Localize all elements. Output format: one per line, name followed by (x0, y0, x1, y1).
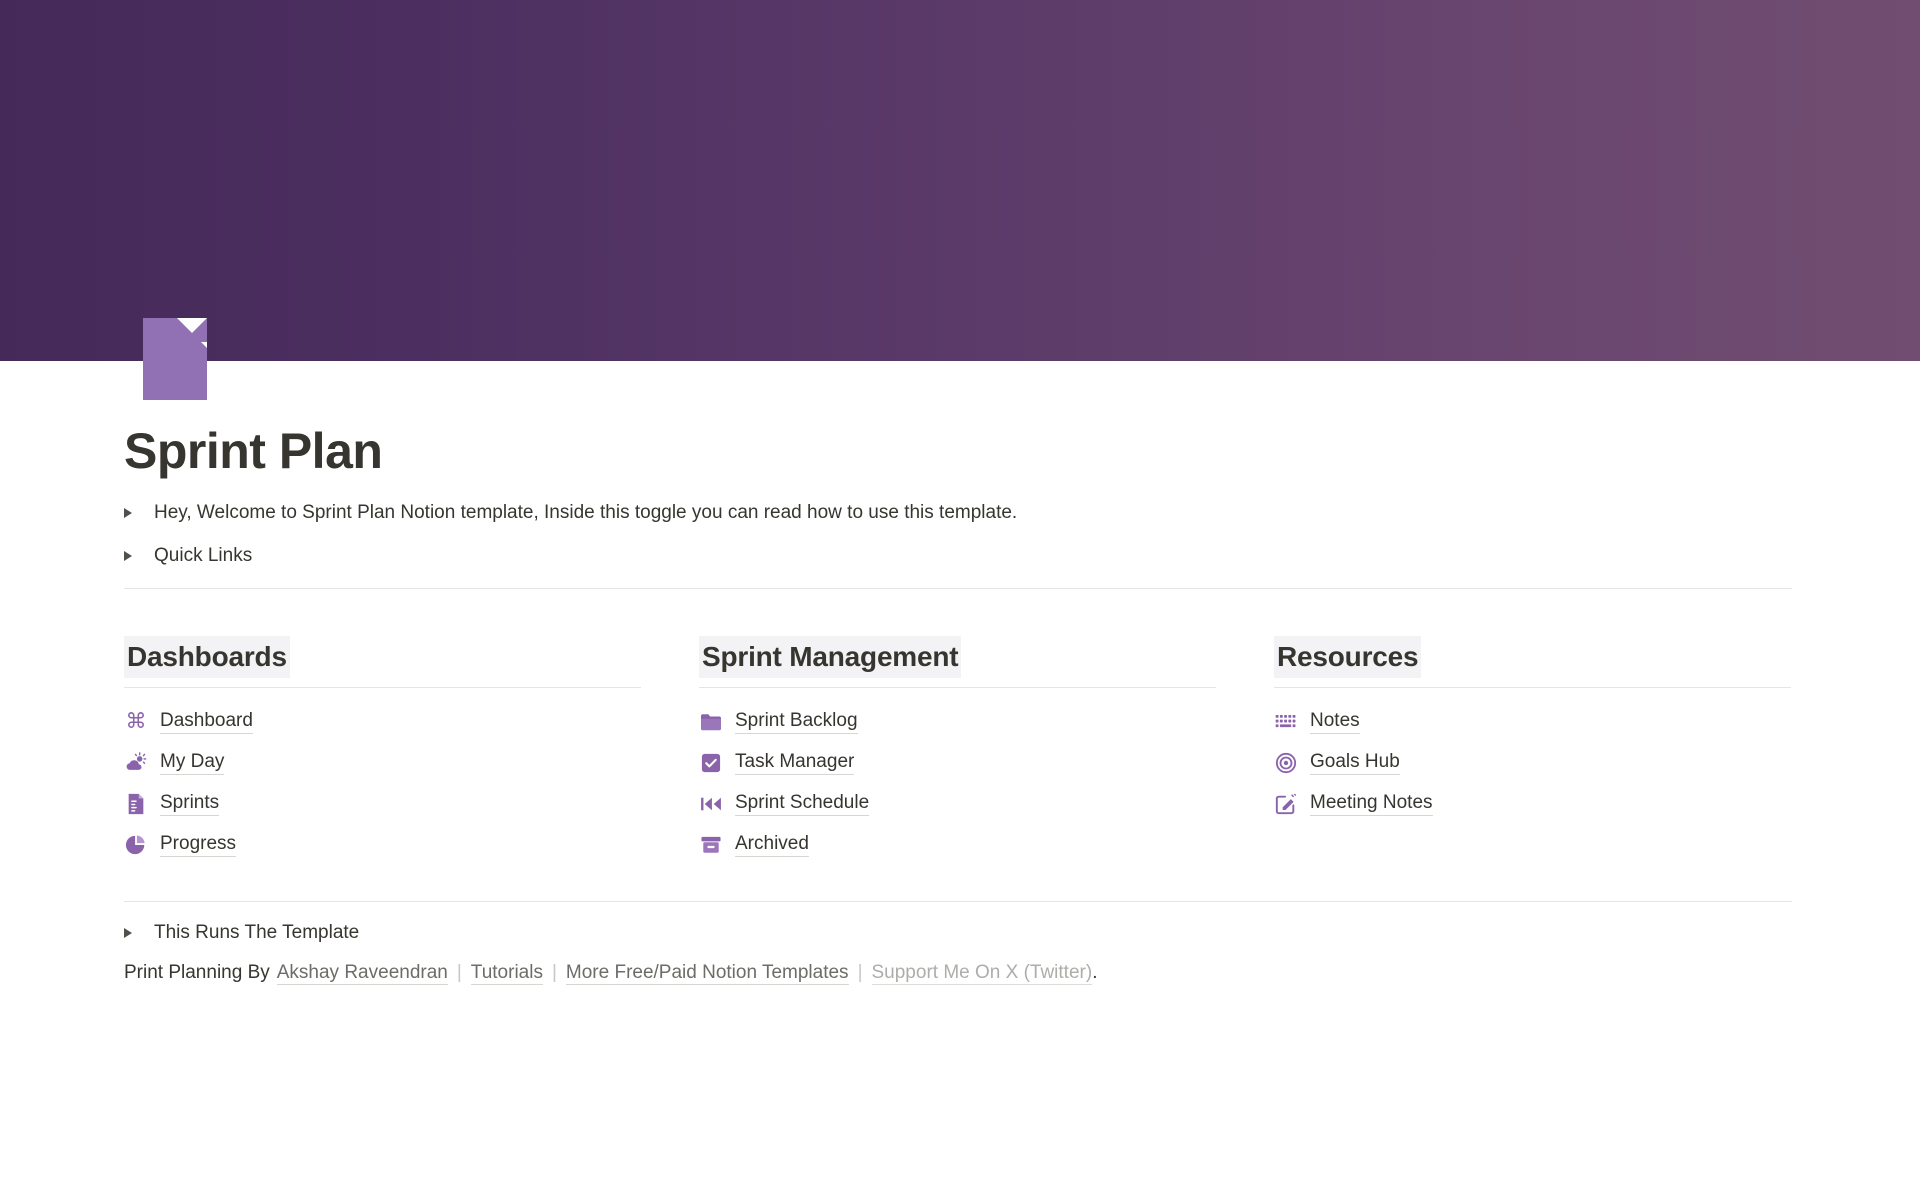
link-columns: Dashboards ⌘ Dashboard (124, 636, 1792, 865)
archive-box-icon (699, 833, 723, 857)
footer-link-tutorials[interactable]: Tutorials (471, 962, 543, 985)
rewind-icon (699, 792, 723, 816)
checkbox-checked-icon (699, 751, 723, 775)
chevron-right-icon[interactable] (124, 548, 140, 564)
column-dashboards-heading: Dashboards (124, 636, 290, 678)
column-resources: Resources (1274, 636, 1791, 865)
sun-cloud-icon (124, 751, 148, 775)
column-resources-heading: Resources (1274, 636, 1421, 678)
footer-lead: Print Planning By (124, 962, 270, 984)
link-meeting-notes-label[interactable]: Meeting Notes (1310, 792, 1433, 816)
link-my-day-label[interactable]: My Day (160, 751, 224, 775)
link-my-day[interactable]: My Day (124, 742, 641, 783)
footer-separator: | (552, 962, 557, 984)
divider-bottom (124, 901, 1792, 902)
column-resources-rule (1274, 687, 1791, 688)
welcome-toggle[interactable]: Hey, Welcome to Sprint Plan Notion templ… (124, 502, 1017, 524)
link-sprint-schedule[interactable]: Sprint Schedule (699, 783, 1216, 824)
column-dashboards-rule (124, 687, 641, 688)
chevron-right-icon[interactable] (124, 505, 140, 521)
footer-credits: Print Planning By Akshay Raveendran | Tu… (124, 962, 1097, 985)
link-goals-hub-label[interactable]: Goals Hub (1310, 751, 1400, 775)
link-sprint-backlog-label[interactable]: Sprint Backlog (735, 710, 858, 734)
column-sprint-management-heading: Sprint Management (699, 636, 961, 678)
document-icon-fold (183, 318, 207, 342)
pencil-square-icon (1274, 792, 1298, 816)
link-sprints-label[interactable]: Sprints (160, 792, 219, 816)
quick-links-toggle-label: Quick Links (154, 545, 252, 567)
column-sprint-management-heading-wrap: Sprint Management (699, 636, 1216, 678)
link-dashboard[interactable]: ⌘ Dashboard (124, 701, 641, 742)
link-sprint-schedule-label[interactable]: Sprint Schedule (735, 792, 869, 816)
pie-chart-icon (124, 833, 148, 857)
link-sprint-backlog[interactable]: Sprint Backlog (699, 701, 1216, 742)
link-progress[interactable]: Progress (124, 824, 641, 865)
this-runs-the-template-label: This Runs The Template (154, 922, 359, 944)
target-icon (1274, 751, 1298, 775)
quick-links-toggle[interactable]: Quick Links (124, 545, 252, 567)
footer-separator: | (457, 962, 462, 984)
chevron-right-icon[interactable] (124, 925, 140, 941)
footer-link-support[interactable]: Support Me On X (Twitter) (872, 962, 1093, 985)
column-dashboards-links: ⌘ Dashboard (124, 701, 641, 865)
this-runs-the-template-toggle[interactable]: This Runs The Template (124, 922, 359, 944)
folder-icon (699, 710, 723, 734)
column-resources-links: Notes Goals Hub (1274, 701, 1791, 824)
footer-link-templates[interactable]: More Free/Paid Notion Templates (566, 962, 849, 985)
column-dashboards: Dashboards ⌘ Dashboard (124, 636, 641, 865)
welcome-toggle-label: Hey, Welcome to Sprint Plan Notion templ… (154, 502, 1017, 524)
link-archived-label[interactable]: Archived (735, 833, 809, 857)
link-dashboard-label[interactable]: Dashboard (160, 710, 253, 734)
link-sprints[interactable]: Sprints (124, 783, 641, 824)
link-goals-hub[interactable]: Goals Hub (1274, 742, 1791, 783)
link-task-manager-label[interactable]: Task Manager (735, 751, 854, 775)
page-title[interactable]: Sprint Plan (124, 422, 382, 480)
column-sprint-management-links: Sprint Backlog Task Manager (699, 701, 1216, 865)
footer-separator: | (858, 962, 863, 984)
page-cover[interactable] (0, 0, 1920, 361)
document-lines-icon (124, 792, 148, 816)
column-sprint-management-rule (699, 687, 1216, 688)
link-task-manager[interactable]: Task Manager (699, 742, 1216, 783)
keyboard-icon (1274, 710, 1298, 734)
column-sprint-management: Sprint Management Sprint Backlog (699, 636, 1216, 865)
link-archived[interactable]: Archived (699, 824, 1216, 865)
command-icon: ⌘ (124, 710, 148, 734)
column-dashboards-heading-wrap: Dashboards (124, 636, 641, 678)
notion-page: Sprint Plan Hey, Welcome to Sprint Plan … (0, 0, 1920, 1199)
column-resources-heading-wrap: Resources (1274, 636, 1791, 678)
link-meeting-notes[interactable]: Meeting Notes (1274, 783, 1791, 824)
divider-top (124, 588, 1792, 589)
footer-link-author[interactable]: Akshay Raveendran (277, 962, 448, 985)
link-progress-label[interactable]: Progress (160, 833, 236, 857)
link-notes-label[interactable]: Notes (1310, 710, 1360, 734)
document-icon[interactable] (143, 318, 207, 400)
link-notes[interactable]: Notes (1274, 701, 1791, 742)
footer-end-punctuation: . (1092, 962, 1097, 984)
